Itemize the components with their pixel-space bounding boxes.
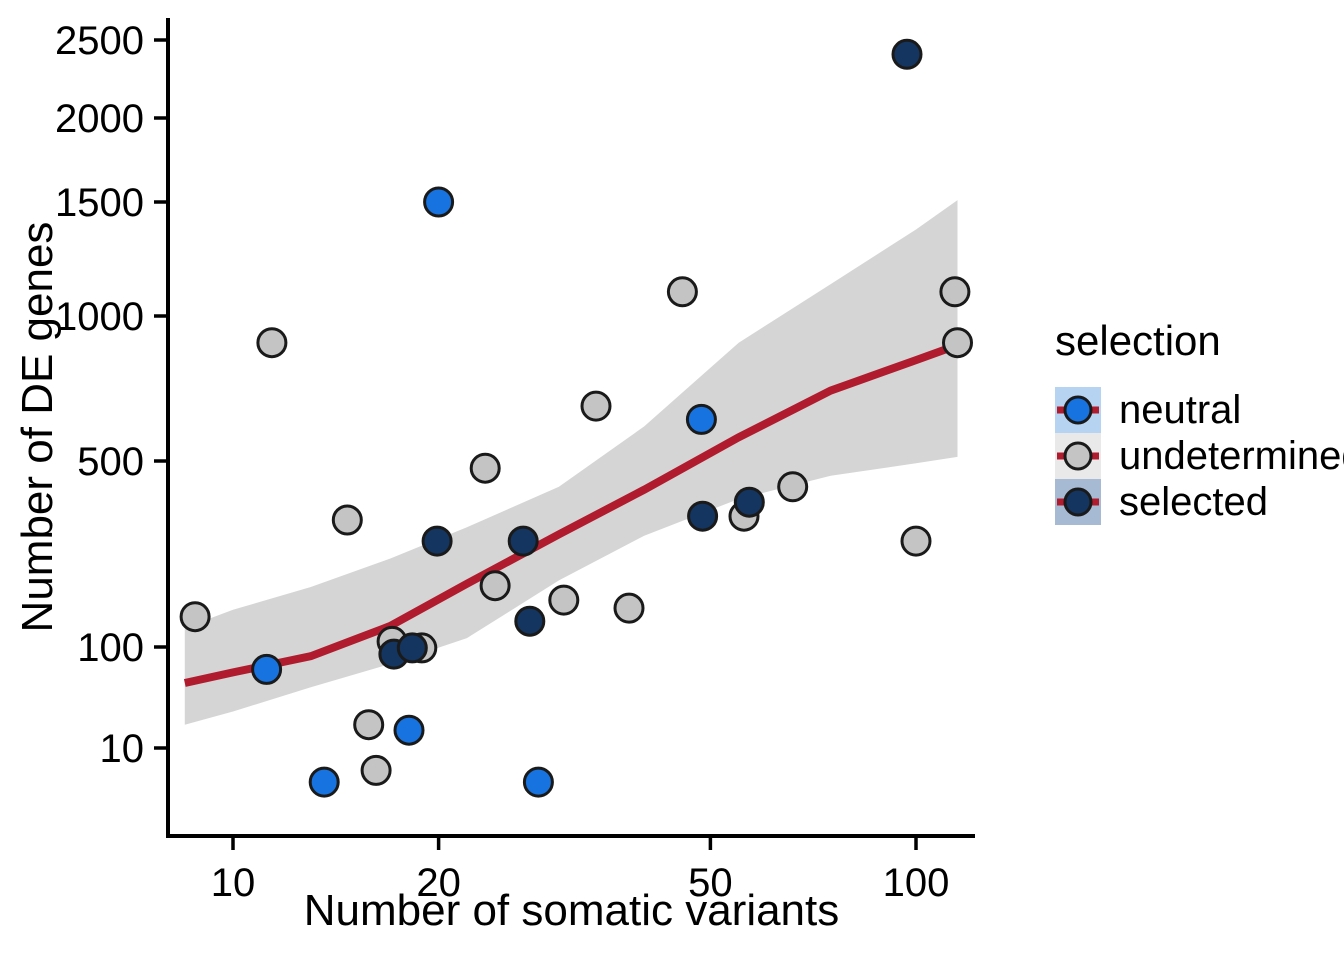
y-tick-label: 10 (100, 727, 145, 771)
data-point-undetermined (902, 527, 930, 555)
legend-entry-label: neutral (1119, 388, 1241, 432)
data-point-neutral (395, 716, 423, 744)
scatter-plot-figure: 101005001000150020002500102050100 Number… (0, 0, 1344, 960)
data-point-undetermined (258, 329, 286, 357)
data-point-selected (893, 40, 921, 68)
data-point-neutral (425, 188, 453, 216)
data-point-undetermined (779, 473, 807, 501)
y-tick-label: 1500 (55, 181, 144, 225)
legend-key-point (1065, 443, 1091, 469)
x-tick-label: 100 (883, 861, 950, 905)
y-tick-label: 100 (77, 626, 144, 670)
legend-entry-label: undetermined (1119, 434, 1344, 478)
data-point-neutral (310, 768, 338, 796)
data-point-neutral (524, 768, 552, 796)
data-point-undetermined (481, 572, 509, 600)
legend-title: selection (1055, 317, 1221, 364)
data-point-undetermined (668, 278, 696, 306)
data-point-selected (423, 527, 451, 555)
data-point-undetermined (941, 278, 969, 306)
data-point-selected (689, 502, 717, 530)
data-point-undetermined (550, 586, 578, 614)
legend-entry-neutral[interactable]: neutral (1055, 387, 1241, 433)
plot-canvas: 101005001000150020002500102050100 Number… (0, 0, 1344, 960)
confidence-band (185, 200, 958, 725)
data-point-undetermined (471, 454, 499, 482)
y-tick-label: 500 (77, 440, 144, 484)
data-point-selected (735, 488, 763, 516)
y-tick-label: 1000 (55, 295, 144, 339)
data-point-undetermined (181, 603, 209, 631)
y-axis-title: Number of DE genes (13, 222, 62, 633)
x-tick-label: 10 (211, 861, 256, 905)
x-axis-title: Number of somatic variants (304, 886, 840, 935)
legend-entry-undetermined[interactable]: undetermined (1055, 433, 1344, 479)
legend-entry-selected[interactable]: selected (1055, 479, 1268, 525)
y-tick-label: 2000 (55, 97, 144, 141)
data-point-undetermined (362, 756, 390, 784)
y-tick-label: 2500 (55, 19, 144, 63)
legend: selectionneutralundeterminedselected (1055, 317, 1344, 525)
legend-entry-label: selected (1119, 480, 1268, 524)
data-point-selected (516, 607, 544, 635)
data-point-selected (398, 634, 426, 662)
data-point-neutral (687, 405, 715, 433)
data-point-selected (509, 527, 537, 555)
data-point-undetermined (582, 392, 610, 420)
data-point-undetermined (944, 329, 972, 357)
data-point-neutral (253, 655, 281, 683)
data-point-undetermined (333, 506, 361, 534)
confidence-ribbon (185, 200, 958, 725)
legend-key-point (1065, 489, 1091, 515)
data-point-undetermined (615, 594, 643, 622)
legend-key-point (1065, 397, 1091, 423)
data-point-undetermined (355, 711, 383, 739)
